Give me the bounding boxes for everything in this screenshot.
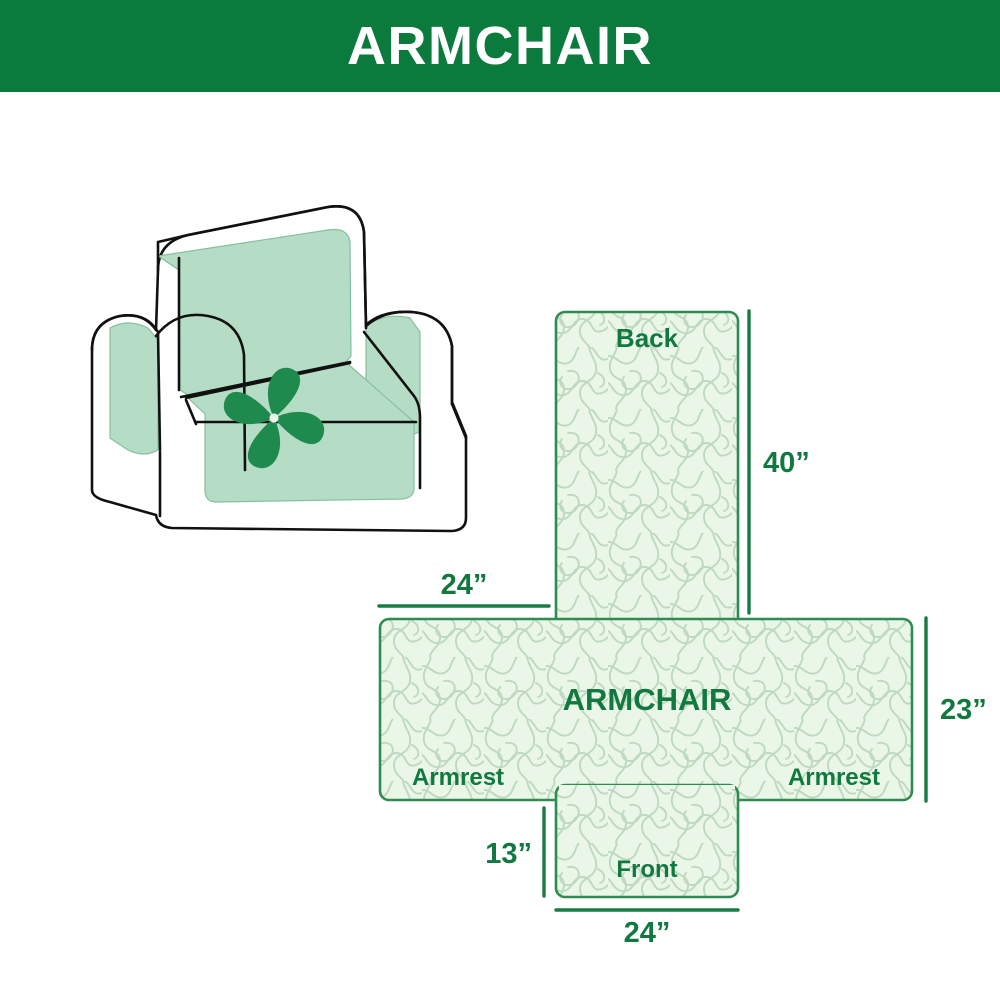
front-height-dimension-label: 13” — [485, 838, 532, 870]
back-width-dimension-label: 24” — [441, 569, 488, 601]
page-title: ARMCHAIR — [347, 19, 653, 73]
left-armrest-label: Armrest — [412, 764, 504, 791]
front-height-dimension: 13” — [485, 808, 544, 896]
armrest-depth-dimension: 23” — [926, 618, 987, 801]
back-panel — [556, 312, 738, 652]
back-joint-cover — [559, 621, 735, 655]
back-panel-label: Back — [616, 323, 679, 353]
front-width-dimension: 24” — [556, 910, 738, 949]
cover-title-label: ARMCHAIR — [563, 682, 732, 717]
front-panel-label: Front — [616, 856, 677, 883]
right-armrest-label: Armrest — [788, 764, 880, 791]
front-joint-cover — [559, 785, 735, 801]
armrest-depth-dimension-label: 23” — [940, 694, 987, 726]
back-height-dimension-label: 40” — [763, 447, 810, 479]
slipcover-left-arm — [110, 323, 158, 454]
product-dimension-diagram-page: ARMCHAIR — [0, 0, 1000, 1000]
cover-layout-diagram: Back ARMCHAIR Armrest Armrest Front 40” … — [360, 285, 1000, 965]
front-width-dimension-label: 24” — [624, 917, 671, 949]
header-banner: ARMCHAIR — [0, 0, 1000, 92]
fan-hub — [269, 413, 278, 422]
back-height-dimension: 40” — [749, 311, 810, 613]
back-width-dimension: 24” — [379, 569, 549, 606]
